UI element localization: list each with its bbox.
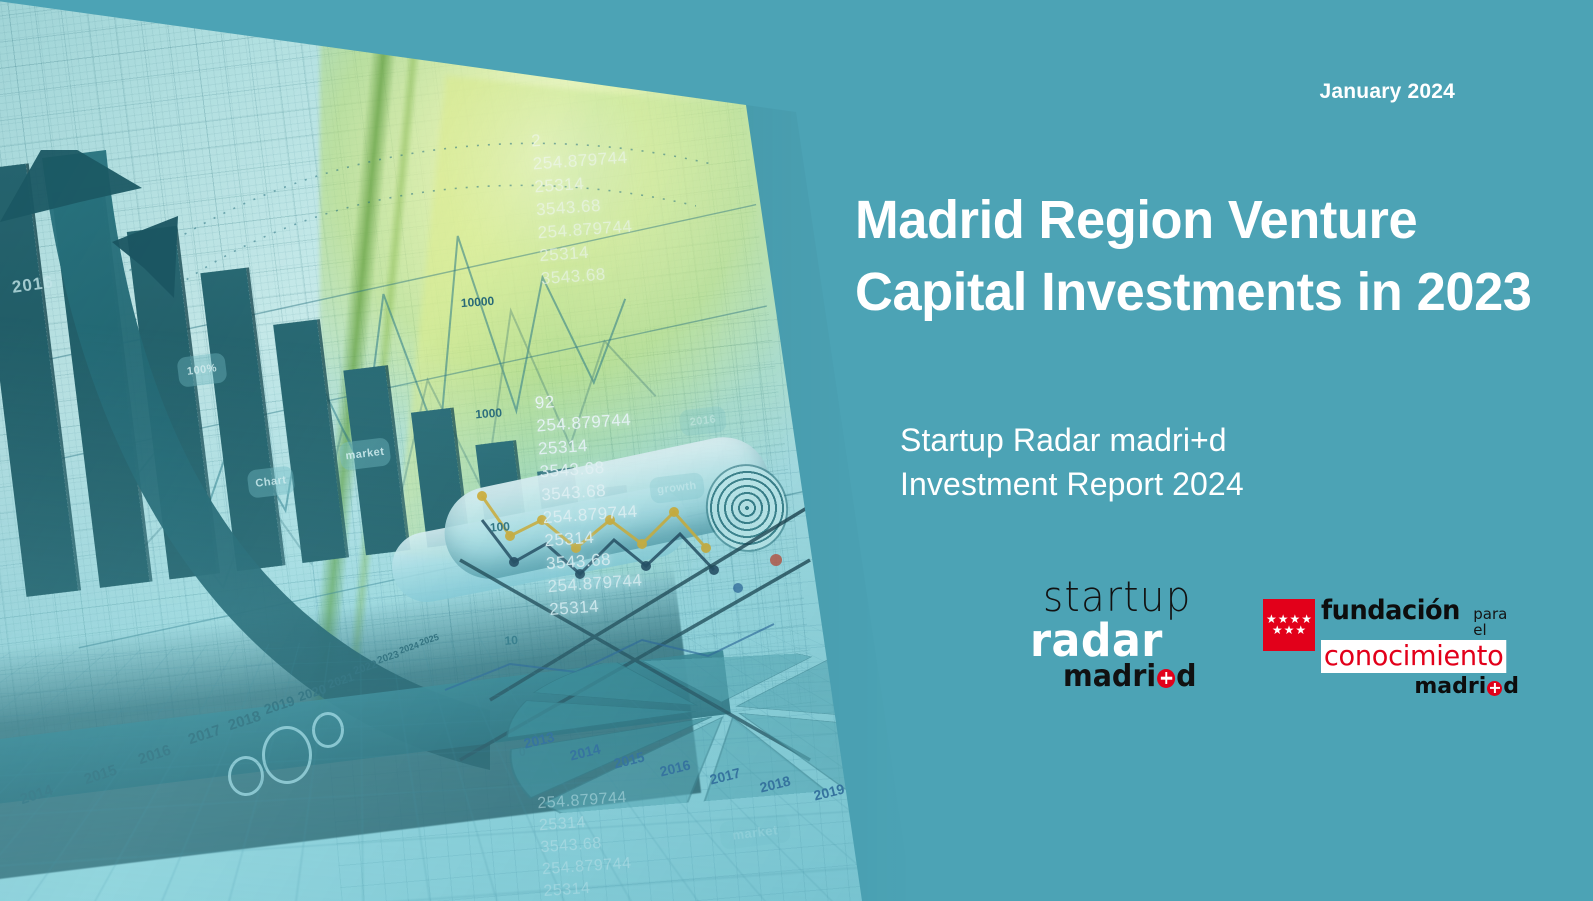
madrid-letter-m: m <box>1414 675 1437 699</box>
year-label-2019: 2019 <box>262 692 297 717</box>
page-subtitle-line-2: Investment Report 2024 <box>900 462 1540 506</box>
madrid-letter-m: m <box>1063 661 1093 693</box>
fundacion-top-line: fundación para el <box>1321 597 1519 638</box>
madrid-flag-icon: ★ ★ ★ ★ ★ ★ ★ <box>1263 599 1315 651</box>
para-el-word: para el <box>1473 606 1519 638</box>
madrid-letter-d: d <box>1503 675 1519 699</box>
year-label-2024: 2024 <box>398 640 420 656</box>
plus-circle-icon <box>1157 669 1175 688</box>
conocimiento-word: conocimiento <box>1321 640 1506 673</box>
page-subtitle: Startup Radar madri+d Investment Report … <box>900 418 1540 506</box>
year-label-2018: 2018 <box>226 708 263 734</box>
startup-radar-wordmark-madrid: madrid <box>1063 661 1197 693</box>
year-label-2020: 2020 <box>296 681 328 704</box>
star-icon: ★ <box>1295 625 1306 636</box>
page-title-line-2: Capital Investments in 2023 <box>855 256 1534 328</box>
year-label-2025: 2025 <box>418 632 440 648</box>
cover-photo: 10000 1000 100 10 0 2 254.879744 25314 3… <box>0 0 870 901</box>
startup-radar-word-startup: startup <box>1043 575 1192 619</box>
year-label-2015: 2015 <box>82 762 119 788</box>
fundacion-text-block: fundación para el conocimiento madrid <box>1321 597 1519 699</box>
pie-year-label-2019: 2019 <box>812 780 846 803</box>
pie-year-label-2016: 2016 <box>658 756 692 779</box>
year-label-2021: 2021 <box>326 670 356 692</box>
year-label-2017: 2017 <box>186 722 223 748</box>
flag-star-row-bottom: ★ ★ ★ <box>1272 625 1306 636</box>
publication-date: January 2024 <box>1320 80 1456 104</box>
star-icon: ★ <box>1284 625 1295 636</box>
year-axis-labels: 2014 2015 2016 2017 2018 2019 2020 2021 … <box>0 0 870 901</box>
chip-100-percent: 100% <box>176 352 227 388</box>
page-title-line-1: Madrid Region Venture <box>855 184 1534 256</box>
year-label-2023: 2023 <box>376 649 401 666</box>
page-title: Madrid Region Venture Capital Investment… <box>855 184 1534 328</box>
page-subtitle-line-1: Startup Radar madri+d <box>900 418 1540 462</box>
star-icon: ★ <box>1272 625 1283 636</box>
title-slide: 10000 1000 100 10 0 2 254.879744 25314 3… <box>0 0 1593 901</box>
pie-year-label-2015: 2015 <box>612 748 646 771</box>
madrid-letters-adri: adri <box>1093 661 1156 693</box>
year-label-2016: 2016 <box>136 742 173 768</box>
fundacion-wordmark-madrid: madrid <box>1321 675 1519 699</box>
plus-circle-icon <box>1487 681 1502 696</box>
fundacion-conocimiento-logo[interactable]: ★ ★ ★ ★ ★ ★ ★ fundación para el conocimi… <box>1263 597 1519 679</box>
startup-radar-word-radar: radar <box>1030 617 1163 665</box>
madrid-letter-d: d <box>1176 661 1196 693</box>
pie-year-label-2013: 2013 <box>522 728 556 751</box>
fundacion-word: fundación <box>1321 597 1460 624</box>
year-label-2022: 2022 <box>352 658 379 677</box>
pie-year-label-2018: 2018 <box>758 772 792 795</box>
pie-year-label-2017: 2017 <box>708 764 742 787</box>
cover-photo-inner: 10000 1000 100 10 0 2 254.879744 25314 3… <box>0 0 870 901</box>
chip-chart: Chart <box>246 465 295 498</box>
startup-radar-logo[interactable]: startup radar madrid <box>1035 575 1215 693</box>
year-label-2014: 2014 <box>18 782 55 808</box>
logo-row: startup radar madrid ★ ★ ★ ★ ★ ★ ★ <box>1035 575 1535 695</box>
madrid-letters-adri: adri <box>1437 675 1486 699</box>
pie-year-label-2014: 2014 <box>568 740 602 763</box>
